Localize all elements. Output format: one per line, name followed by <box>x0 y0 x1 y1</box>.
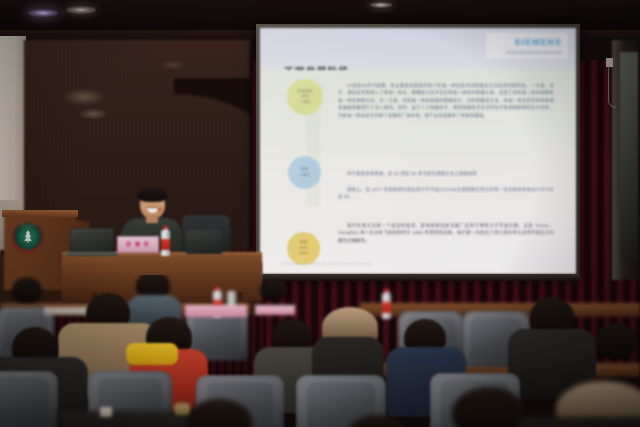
presenter-eye-left <box>145 200 149 202</box>
stage-bubble-2: 机电 一体化 <box>288 156 321 189</box>
slide-paragraph-1: 20世纪90年代后期，各主要发达国家开始了机电一体化技术向智能化方向迈进的新阶段… <box>338 82 554 119</box>
attendee-head-mid-5 <box>596 323 636 359</box>
attendee-yellow-hood <box>126 343 178 365</box>
name-placard-text: 孙 增 圻 <box>126 241 150 248</box>
ceiling-downlight-1 <box>28 9 58 17</box>
slide-paragraph-2: 对于柔性多体系统，自 20 世纪 80 年代后在建模方法上渐趋成熟 <box>338 170 554 177</box>
bottle-label <box>161 239 170 250</box>
ceiling-downlight-3 <box>370 2 392 8</box>
attendee-body-front-right <box>520 417 640 427</box>
presenter-laptop-base <box>66 252 118 256</box>
presenter-eye-right <box>156 200 160 202</box>
stage-bubble-1-label: 机电智能 系统 一体化 <box>297 89 312 106</box>
seat-front-1[interactable] <box>0 371 58 427</box>
emblem-bottom-text: OUC <box>14 248 42 250</box>
slide-copyright-footer: Restricted © Siemens AG 2014 All rights … <box>282 262 373 266</box>
bottle-cap <box>163 226 168 229</box>
presenter-water-bottle <box>161 226 170 256</box>
ceiling-downlight-2 <box>66 6 96 14</box>
slide-paragraph-3: 国际上，自 1977 年国际理论和应用力学学会(IUTAM)在德国慕尼黑召开第一… <box>338 186 554 201</box>
siemens-wordmark: SIEMENS <box>515 37 562 47</box>
stage-bubble-3-label: 机电 FEM EMA <box>299 240 307 257</box>
wall-cable <box>608 66 616 108</box>
attendee-head-back-3 <box>260 279 286 301</box>
slide-paragraph-4: 现代有限元法第一个成功的尝试，是将刚架位移法推广应用于弹性力学平面问题。这是 T… <box>338 222 554 244</box>
stage-bubble-2-label: 机电 一体化 <box>299 167 310 178</box>
projection-screen: SIEMENS 不同发展阶段 机电智能 系统 一体化 机电 一体化 机电 FEM… <box>260 28 576 274</box>
secondary-laptop[interactable] <box>186 230 222 254</box>
stage-bubble-3: 机电 FEM EMA <box>287 232 320 265</box>
emblem-top-text: 中国海洋大学 <box>14 223 42 227</box>
audience-pink-folder <box>185 305 247 317</box>
audience-pink-folder-2 <box>255 305 295 315</box>
front-desk-cup <box>100 407 112 417</box>
name-placard: 孙 增 圻 <box>117 236 159 253</box>
wall-scuff-3 <box>160 60 186 70</box>
presenter-laptop-screen[interactable] <box>73 231 111 251</box>
front-desk-item <box>174 403 190 415</box>
siemens-underline <box>506 51 562 54</box>
wall-scuff-2 <box>78 108 108 120</box>
audience-water-bottle-2 <box>382 289 391 315</box>
audience-area <box>0 275 640 427</box>
attendee-body-front-left <box>58 411 188 427</box>
presenter-hair <box>138 188 167 202</box>
presenter-microphone-icon <box>158 208 161 211</box>
attendee-head-back-2 <box>12 277 42 303</box>
stage-bubble-1: 机电智能 系统 一体化 <box>287 79 323 115</box>
lecture-hall-photo: SIEMENS 不同发展阶段 机电智能 系统 一体化 机电 一体化 机电 FEM… <box>0 0 640 427</box>
podium-top-surface <box>2 210 78 217</box>
wall-scuff-1 <box>62 88 106 106</box>
slide-body: 机电智能 系统 一体化 机电 一体化 机电 FEM EMA 20世纪90年代后期… <box>260 70 576 274</box>
door-glass <box>620 52 638 262</box>
